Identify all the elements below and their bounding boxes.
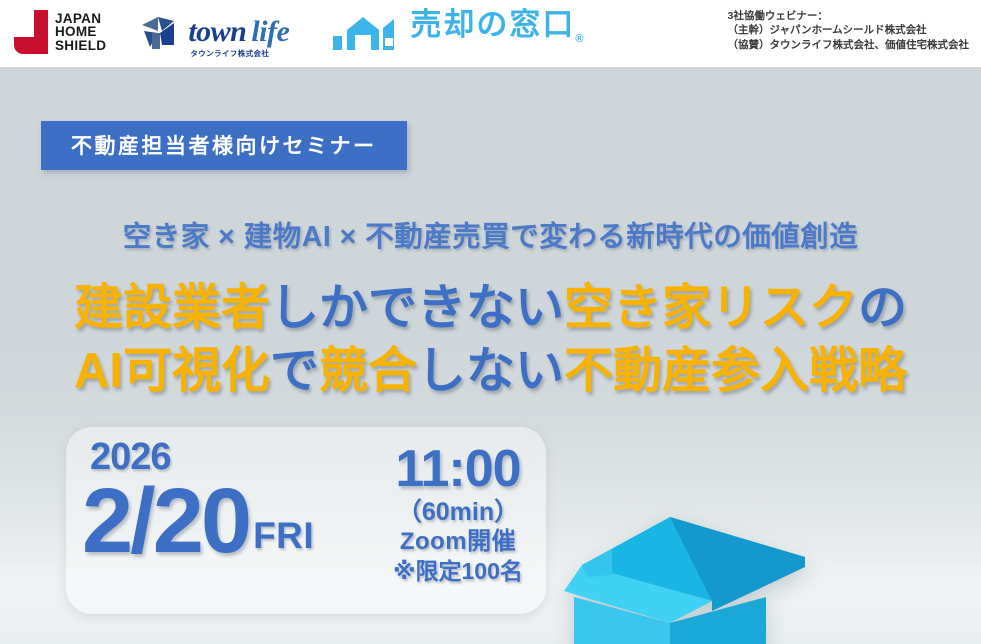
headline-line-1-seg-3: の [858, 281, 907, 335]
headline-line-1-seg-1: しかできない [270, 281, 564, 335]
event-capacity: ※限定100名 [378, 557, 538, 585]
headline-line-2-seg-3: しない [417, 344, 564, 398]
host-note-line-1: 3社協働ウェビナー： [728, 9, 970, 23]
event-duration: （60min） [378, 497, 538, 527]
headline-line-1: 建設業者しかできない空き家リスクの [0, 268, 981, 339]
headline-line-2: AI可視化で競合しない不動産参入戦略 [0, 331, 981, 402]
jhs-j-mark-icon [14, 10, 48, 54]
jhs-wordmark: JAPAN HOME SHIELD [55, 12, 106, 53]
logo-baikyaku-no-madoguchi: 売却の窓口® [333, 8, 583, 56]
jhs-line-1: JAPAN [55, 12, 106, 26]
headline-line-2-seg-2: 競合 [319, 344, 417, 398]
header-bar: JAPAN HOME SHIELD [0, 0, 981, 67]
town-life-wordmark: townlife タウンライフ株式会社 [188, 17, 289, 47]
town-life-subtext: タウンライフ株式会社 [190, 48, 269, 59]
madoguchi-house-icon [333, 14, 401, 50]
jhs-line-2: HOME [55, 25, 106, 39]
event-date: 2/20 [82, 473, 249, 569]
headline-line-2-seg-0: AI可視化 [74, 344, 270, 398]
audience-ribbon-label: 不動産担当者様向けセミナー [71, 135, 377, 158]
madoguchi-wordmark: 売却の窓口® [410, 8, 583, 56]
town-life-town: town [188, 15, 246, 48]
town-life-mark-icon [140, 11, 180, 53]
cyan-house-illustration [552, 505, 822, 644]
headline-subtitle: 空き家 × 建物AI × 不動産売買で変わる新時代の価値創造 [0, 214, 981, 255]
jhs-line-3: SHIELD [55, 39, 106, 53]
registered-mark-icon: ® [575, 33, 583, 45]
headline-line-1-seg-0: 建設業者 [74, 281, 270, 335]
event-platform: Zoom開催 [378, 527, 538, 557]
host-note: 3社協働ウェビナー： （主幹）ジャパンホームシールド株式会社 （協賛）タウンライ… [728, 9, 970, 52]
town-life-life: life [251, 15, 289, 48]
logo-town-life: townlife タウンライフ株式会社 [140, 11, 289, 53]
event-date-block: 2026 2/20 FRI [82, 437, 314, 569]
event-info-card: 2026 2/20 FRI 11:00 （60min） Zoom開催 ※限定10… [66, 427, 546, 614]
event-weekday: FRI [253, 511, 314, 569]
audience-ribbon: 不動産担当者様向けセミナー [41, 121, 407, 170]
logo-row: JAPAN HOME SHIELD [14, 8, 583, 56]
headline-line-2-seg-1: で [270, 344, 319, 398]
webinar-poster: JAPAN HOME SHIELD [0, 0, 981, 644]
host-note-line-2: （主幹）ジャパンホームシールド株式会社 [728, 23, 970, 37]
madoguchi-text: 売却の窓口 [410, 7, 575, 42]
host-note-line-3: （協賛）タウンライフ株式会社、価値住宅株式会社 [728, 38, 970, 52]
event-time-block: 11:00 （60min） Zoom開催 ※限定100名 [378, 441, 538, 585]
event-date-row: 2/20 FRI [82, 473, 314, 569]
event-time: 11:00 [378, 441, 538, 497]
headline-line-1-seg-2: 空き家リスク [564, 281, 858, 335]
town-life-main: townlife [188, 17, 289, 47]
logo-japan-home-shield: JAPAN HOME SHIELD [14, 10, 106, 54]
headline-line-2-seg-4: 不動産参入戦略 [564, 344, 907, 398]
